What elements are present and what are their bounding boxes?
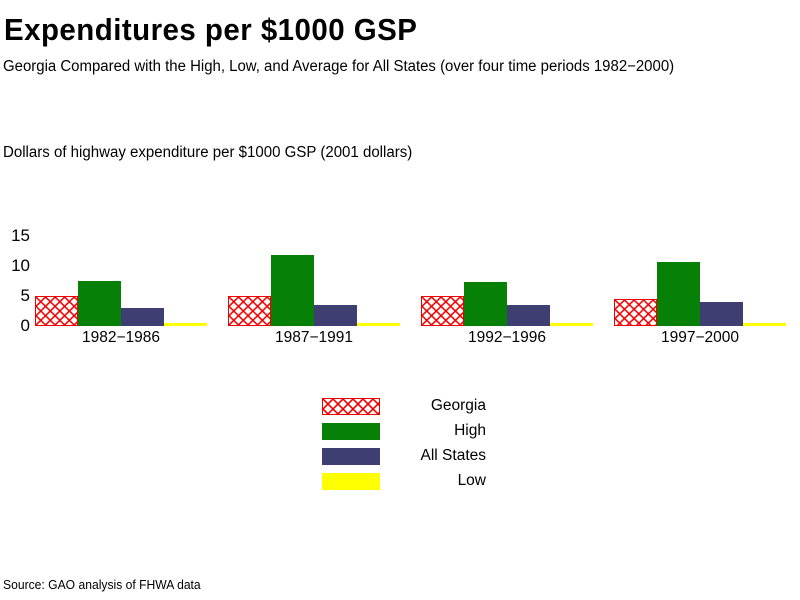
- crosshatch-pattern-icon: [36, 297, 77, 325]
- bar-low: [550, 323, 593, 326]
- bar-georgia: [228, 296, 271, 326]
- y-tick-label: 10: [0, 257, 30, 274]
- bar-low: [743, 323, 786, 326]
- x-tick-label: 1997−2000: [589, 330, 800, 346]
- bar-low: [357, 323, 400, 326]
- x-tick-label: 1987−1991: [203, 330, 425, 346]
- crosshatch-pattern-icon: [323, 399, 379, 414]
- bar-high: [78, 281, 121, 326]
- green-swatch: [322, 423, 380, 440]
- legend-item-georgia[interactable]: Georgia: [322, 396, 482, 421]
- legend-label: High: [386, 421, 486, 441]
- bar-chart-plot-area: 051015 1982−19861987−19911992−19961997−2…: [0, 0, 800, 360]
- legend-label: All States: [386, 446, 486, 466]
- y-tick-label: 5: [0, 287, 30, 304]
- bar-high: [271, 255, 314, 326]
- legend-label: Georgia: [386, 396, 486, 416]
- bar-georgia: [421, 296, 464, 326]
- x-tick-label: 1982−1986: [10, 330, 232, 346]
- crosshatch-pattern-icon: [422, 297, 463, 325]
- legend-item-low[interactable]: Low: [322, 471, 482, 496]
- red-crosshatch-swatch: [322, 398, 380, 415]
- x-tick-label: 1992−1996: [396, 330, 618, 346]
- bar-all-states: [121, 308, 164, 326]
- yellow-swatch: [322, 473, 380, 490]
- bar-low: [164, 323, 207, 326]
- bar-high: [464, 282, 507, 326]
- legend-item-high[interactable]: High: [322, 421, 482, 446]
- bar-all-states: [507, 305, 550, 326]
- source-note: Source: GAO analysis of FHWA data: [3, 578, 201, 592]
- chart-legend: GeorgiaHighAll StatesLow: [322, 396, 482, 496]
- crosshatch-pattern-icon: [615, 300, 656, 325]
- legend-item-all-states[interactable]: All States: [322, 446, 482, 471]
- navy-swatch: [322, 448, 380, 465]
- bar-high: [657, 262, 700, 326]
- legend-label: Low: [386, 471, 486, 491]
- y-tick-label: 15: [0, 227, 30, 244]
- crosshatch-pattern-icon: [229, 297, 270, 325]
- bar-all-states: [700, 302, 743, 326]
- bar-georgia: [35, 296, 78, 326]
- bar-georgia: [614, 299, 657, 326]
- bar-all-states: [314, 305, 357, 326]
